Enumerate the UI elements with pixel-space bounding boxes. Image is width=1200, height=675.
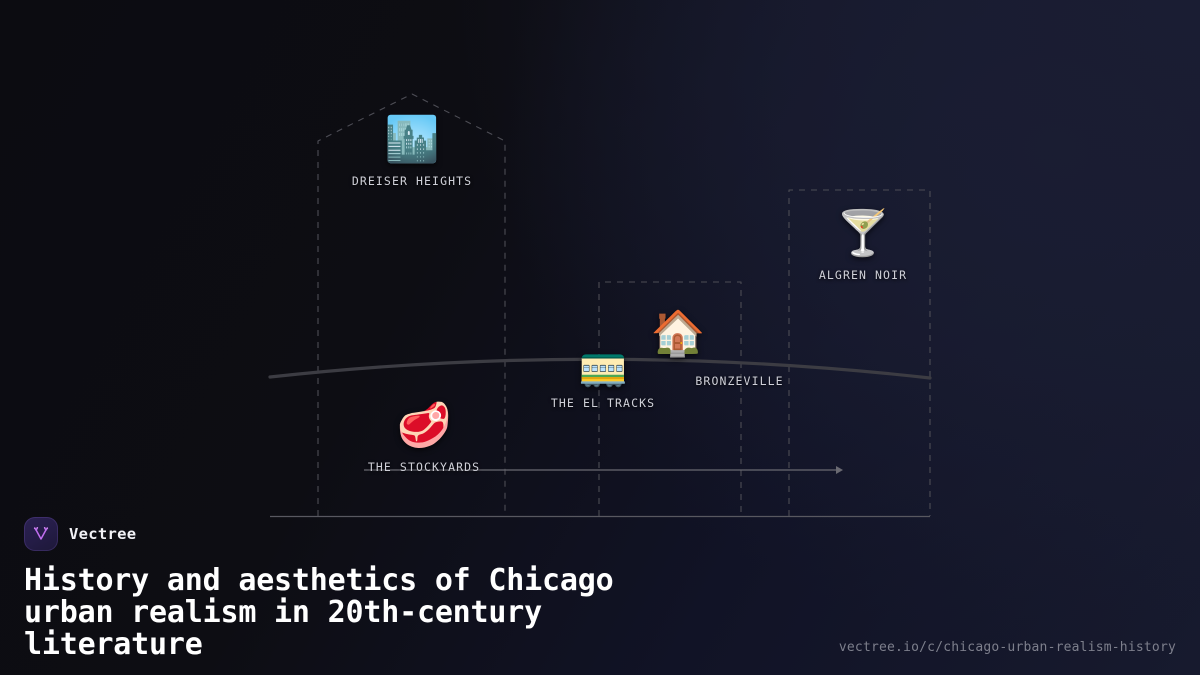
cityscape-icon: 🏙️ bbox=[385, 118, 440, 162]
node-label-algren-noir: ALGREN NOIR bbox=[819, 268, 907, 282]
node-label-the-stockyards: THE STOCKYARDS bbox=[368, 460, 480, 474]
node-label-the-el-tracks: THE EL TRACKS bbox=[551, 396, 655, 410]
poster-canvas: 🏙️ DREISER HEIGHTS 🍸 ALGREN NOIR 🏠 BRONZ… bbox=[0, 0, 1200, 675]
railway-car-icon: 🚃 bbox=[578, 346, 628, 386]
poster-footer: Vectree History and aesthetics of Chicag… bbox=[24, 517, 1176, 661]
site-url: vectree.io/c/chicago-urban-realism-histo… bbox=[839, 640, 1176, 655]
node-the-stockyards[interactable]: 🥩 THE STOCKYARDS bbox=[368, 404, 480, 474]
node-algren-noir[interactable]: 🍸 ALGREN NOIR bbox=[819, 212, 907, 282]
node-bronzeville[interactable]: 🏠 BRONZEVILLE bbox=[651, 312, 706, 356]
node-the-el-tracks[interactable]: 🚃 THE EL TRACKS bbox=[551, 346, 655, 410]
house-icon: 🏠 bbox=[651, 312, 706, 356]
node-dreiser-heights[interactable]: 🏙️ DREISER HEIGHTS bbox=[352, 118, 472, 188]
page-title: History and aesthetics of Chicago urban … bbox=[24, 565, 784, 661]
node-label-dreiser-heights: DREISER HEIGHTS bbox=[352, 174, 472, 188]
brand-row[interactable]: Vectree bbox=[24, 517, 1176, 551]
vectree-v-logo-icon bbox=[24, 517, 58, 551]
cut-of-meat-icon: 🥩 bbox=[397, 404, 452, 448]
node-label-bronzeville: BRONZEVILLE bbox=[695, 374, 783, 388]
cocktail-glass-icon: 🍸 bbox=[836, 212, 891, 256]
brand-name: Vectree bbox=[69, 525, 136, 543]
